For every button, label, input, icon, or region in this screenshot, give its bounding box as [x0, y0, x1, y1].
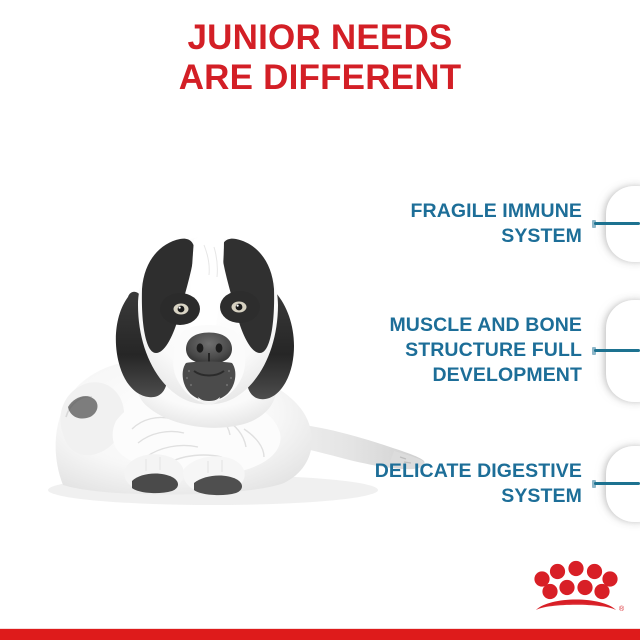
feature-connector-line [594, 349, 640, 352]
feature-label-line: SYSTEM [342, 224, 582, 249]
feature-label-line: FRAGILE IMMUNE [342, 199, 582, 224]
feature-label: FRAGILE IMMUNE SYSTEM [342, 186, 582, 249]
feature-connector-line [594, 222, 640, 225]
feature-label-line: DELICATE DIGESTIVE [342, 459, 582, 484]
bottom-red-bar [0, 629, 640, 640]
page-title: JUNIOR NEEDS ARE DIFFERENT [0, 18, 640, 98]
feature-label-line: DEVELOPMENT [342, 363, 582, 388]
page-title-line-2: ARE DIFFERENT [0, 58, 640, 98]
royal-canin-crown-icon: ® [526, 554, 626, 616]
svg-text:®: ® [619, 605, 625, 613]
page-title-line-1: JUNIOR NEEDS [0, 18, 640, 58]
feature-label-line: MUSCLE AND BONE [342, 313, 582, 338]
feature-label-line: STRUCTURE FULL [342, 338, 582, 363]
feature-label: MUSCLE AND BONE STRUCTURE FULL DEVELOPME… [342, 300, 582, 388]
feature-label: DELICATE DIGESTIVE SYSTEM [342, 446, 582, 509]
feature-label-line: SYSTEM [342, 484, 582, 509]
poster-canvas: JUNIOR NEEDS ARE DIFFERENT [0, 0, 640, 640]
feature-connector-line [594, 482, 640, 485]
